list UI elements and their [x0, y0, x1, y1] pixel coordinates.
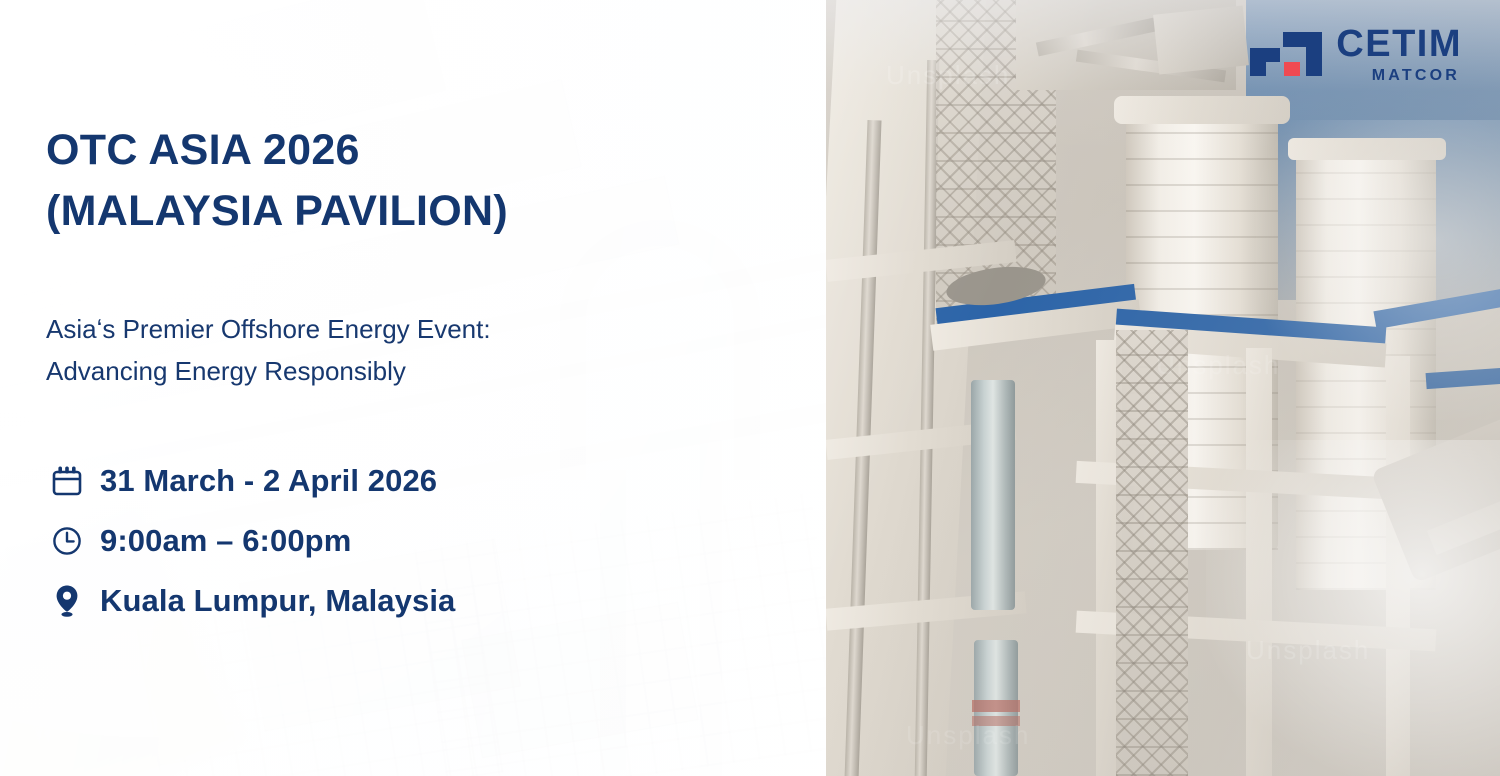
title-line-2: (MALAYSIA PAVILION) — [46, 181, 508, 242]
event-time-row: 9:00am – 6:00pm — [50, 518, 455, 564]
subtitle-line-2: Advancing Energy Responsibly — [46, 350, 491, 392]
photo-watermark: Unsplash — [906, 720, 1030, 751]
cetim-matcor-mark-icon — [1250, 32, 1322, 82]
event-details-list: 31 March - 2 April 2026 9:00am – 6:00pm — [50, 458, 455, 624]
event-time-text: 9:00am – 6:00pm — [100, 523, 351, 559]
photo-watermark: Unsplash — [1246, 635, 1370, 666]
page-title: OTC ASIA 2026 (MALAYSIA PAVILION) — [46, 120, 508, 242]
event-date-row: 31 March - 2 April 2026 — [50, 458, 455, 504]
event-banner: OTC ASIA 2026 (MALAYSIA PAVILION) Asiaʻs… — [0, 0, 1500, 776]
event-location-text: Kuala Lumpur, Malaysia — [100, 583, 455, 619]
logo-wordmark: CETIM MATCOR — [1336, 26, 1462, 88]
title-line-1: OTC ASIA 2026 — [46, 120, 508, 181]
industrial-plant-photo: Unsplash Unsplash Unsplash Unsplash — [826, 0, 1500, 776]
event-date-text: 31 March - 2 April 2026 — [100, 463, 437, 499]
event-location-row: Kuala Lumpur, Malaysia — [50, 578, 455, 624]
clock-icon — [50, 521, 84, 561]
calendar-icon — [50, 461, 84, 501]
photo-watermark: Unsplash — [1156, 350, 1280, 381]
location-pin-icon — [50, 581, 84, 621]
page-subtitle: Asiaʻs Premier Offshore Energy Event: Ad… — [46, 308, 491, 392]
logo-primary-text: CETIM — [1336, 26, 1462, 62]
text-content: OTC ASIA 2026 (MALAYSIA PAVILION) Asiaʻs… — [46, 0, 786, 776]
subtitle-line-1: Asiaʻs Premier Offshore Energy Event: — [46, 308, 491, 350]
cetim-matcor-logo[interactable]: CETIM MATCOR — [1250, 26, 1462, 88]
left-content-panel: OTC ASIA 2026 (MALAYSIA PAVILION) Asiaʻs… — [0, 0, 826, 776]
photo-watermark: Unsplash — [886, 60, 1010, 91]
logo-secondary-text: MATCOR — [1372, 65, 1462, 87]
